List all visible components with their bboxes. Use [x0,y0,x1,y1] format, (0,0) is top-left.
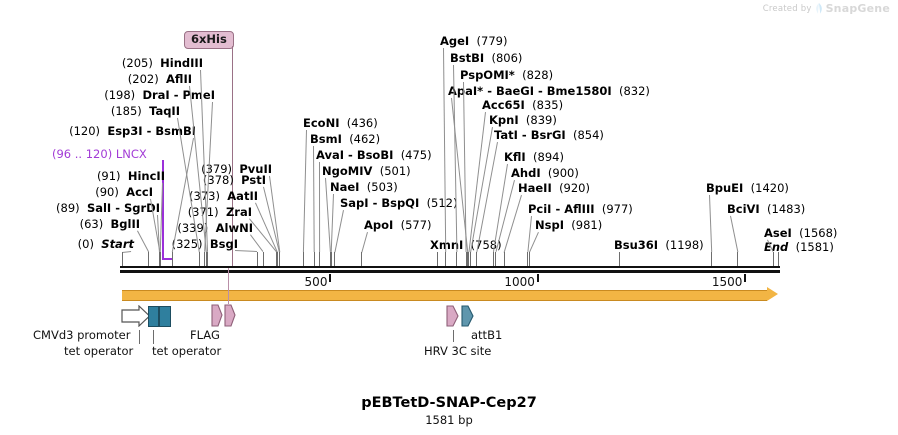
cut-site-tick [334,252,335,266]
orf-arrow-head [767,287,778,301]
enzyme-name: NaeI [330,180,359,194]
enzyme-leader-line [137,231,149,252]
enzyme-name: AflIII [564,202,594,216]
enzyme-position: (577) [401,218,432,232]
enzyme-position: (920) [559,181,590,195]
cut-site-tick [778,252,779,266]
feature-label-cmvd3-promoter: CMVd3 promoter [33,329,130,342]
enzyme-name: PspOMI* [460,68,515,82]
enzyme-leader-line [334,210,344,252]
enzyme-name: KpnI [489,113,519,127]
enzyme-leader-line [250,234,263,252]
feature-flag-stem [228,268,229,304]
cut-site-tick [207,252,208,266]
feature-leader-hrv3c [453,330,454,342]
enzyme-position: (900) [548,166,579,180]
enzyme-name: BstBI [450,51,484,65]
enzyme-name: BglII [111,217,141,231]
enzyme-label-zrai[interactable]: (371) ZraI [188,206,252,218]
enzyme-label-acci[interactable]: (90) AccI [95,186,153,198]
enzyme-name: BsgI [210,237,238,251]
enzyme-leader-line [319,162,320,252]
enzyme-label-apoi[interactable]: ApoI (577) [364,219,432,231]
snapgene-watermark: Created by SnapGene [763,2,890,15]
annotation-lncx-pos: (96 .. 120) [52,147,112,161]
enzyme-position: (198) [104,88,135,102]
enzyme-leader-line [504,195,522,252]
enzyme-label-tati[interactable]: TatI - BsrGI (854) [494,129,604,141]
enzyme-label-econi[interactable]: EcoNI (436) [303,117,378,129]
enzyme-position: (835) [532,98,563,112]
ruler-tick-500 [329,274,331,282]
enzyme-name: AhdI [511,166,541,180]
enzyme-position: (0) [78,237,94,251]
enzyme-name: BsmI [310,132,342,146]
sequence-length: 1581 bp [0,413,898,427]
enzyme-label-bglii[interactable]: (63) BglII [80,218,140,230]
enzyme-position: (475) [401,148,432,162]
enzyme-label-alwni[interactable]: (339) AlwNI [177,222,253,234]
enzyme-name: Start [101,237,134,251]
enzyme-leader-line [331,194,334,252]
enzyme-label-asei[interactable]: AseI (1568) [764,227,837,239]
enzyme-name: SalI [87,201,111,215]
enzyme-position: (379) [201,162,232,176]
enzyme-label-start[interactable]: (0) Start [78,238,134,250]
enzyme-label-sali[interactable]: (89) SalI - SgrDI [56,202,160,214]
cut-site-tick [331,252,332,266]
enzyme-label-agei[interactable]: AgeI (779) [440,35,507,47]
enzyme-name: BsoBI [357,148,394,162]
enzyme-position: (1483) [767,202,805,216]
feature-attb1[interactable] [461,304,475,328]
enzyme-leader-line [709,195,712,252]
page-title: pEBTetD-SNAP-Cep27 [0,395,898,411]
enzyme-name: ZraI [226,205,252,219]
snapgene-leaf-icon [815,3,823,14]
enzyme-position: (1581) [796,240,834,254]
enzyme-name: HindIII [160,56,203,70]
annotation-lncx-name: LNCX [116,147,147,161]
enzyme-name: HincII [128,169,165,183]
cut-site-tick [737,252,738,266]
enzyme-name: TatI [494,128,518,142]
enzyme-label-bstbi[interactable]: BstBI (806) [450,52,522,64]
cut-site-tick [504,252,505,266]
enzyme-position: (854) [573,128,604,142]
enzyme-leader-line [730,216,738,252]
feature-flag[interactable] [211,303,237,328]
annotation-lncx[interactable]: (96 .. 120) LNCX [52,147,147,161]
ruler-tick-1000 [537,274,539,282]
enzyme-leader-line [451,98,468,252]
enzyme-label-apai[interactable]: ApaI* - BaeGI - Bme1580I (832) [448,85,650,97]
enzyme-position: (981) [571,218,602,232]
cut-site-tick [314,252,315,266]
enzyme-name: BaeGI [496,84,534,98]
enzyme-position: (91) [97,169,121,183]
feature-label-tet-operator-1: tet operator [64,345,133,358]
feature-tet-operator-1[interactable] [148,306,159,327]
enzyme-name: KflI [504,150,526,164]
enzyme-label-kfli[interactable]: KflI (894) [504,151,564,163]
enzyme-position: (120) [69,124,100,138]
cut-site-tick [445,252,446,266]
cut-site-tick [495,252,496,266]
enzyme-label-esp3i[interactable]: (120) Esp3I - BsmBI [69,125,196,137]
enzyme-name: PciI [528,202,551,216]
feature-label-flag: FLAG [190,329,220,342]
enzyme-label-ngomiv[interactable]: NgoMIV (501) [322,165,411,177]
enzyme-position: (63) [80,217,104,231]
enzyme-name: BspQI [381,196,419,210]
cut-site-tick [172,252,173,266]
cut-site-tick [303,252,304,266]
enzyme-position: (1198) [665,238,703,252]
cut-site-tick [122,252,123,266]
enzyme-name: BsrGI [531,128,566,142]
cut-site-tick [160,252,161,266]
enzyme-leader-line [303,130,307,252]
enzyme-position: (202) [128,72,159,86]
cut-site-tick [437,252,438,266]
enzyme-name: AvaI [316,148,344,162]
feature-cmvd3-promoter[interactable] [121,305,151,327]
enzyme-leader-line [313,146,315,252]
enzyme-name: HaeII [518,181,552,195]
enzyme-name: AlwNI [216,221,253,235]
cut-site-tick [263,252,264,266]
enzyme-name: Bme1580I [547,84,612,98]
feature-label-hrv-3c-site: HRV 3C site [424,345,491,358]
enzyme-label-pvuii[interactable]: (379) PvuII [201,163,272,175]
enzyme-name: SapI [340,196,369,210]
enzyme-name: Bsu36I [614,238,658,252]
enzyme-position: (1568) [799,226,837,240]
enzyme-name: AflII [166,72,192,86]
feature-hrv-3c-site[interactable] [446,304,460,328]
watermark-created-by: Created by [763,4,812,14]
enzyme-name: BsmBI [155,124,196,138]
enzyme-label-avai[interactable]: AvaI - BsoBI (475) [316,149,432,161]
feature-leader-tet-1 [139,330,140,344]
feature-flag-6xhis[interactable]: 6xHis [184,31,234,49]
cut-site-tick [257,252,258,266]
watermark-brand: SnapGene [826,2,890,15]
enzyme-label-bsmi[interactable]: BsmI (462) [310,133,380,145]
feature-label-attb1: attB1 [471,329,502,342]
cut-site-tick [529,252,530,266]
cut-site-tick [619,252,620,266]
enzyme-name: EcoNI [303,116,339,130]
enzyme-label-naei[interactable]: NaeI (503) [330,181,398,193]
enzyme-position: (839) [526,113,557,127]
cut-site-tick [711,252,712,266]
feature-tet-operator-2[interactable] [159,306,171,327]
enzyme-name: PvuII [239,162,272,176]
ruler-label-1500: 1500 [712,275,745,289]
enzyme-position: (832) [619,84,650,98]
enzyme-position: (185) [111,104,142,118]
enzyme-name: NspI [535,218,564,232]
enzyme-position: (806) [491,51,522,65]
enzyme-position: (894) [533,150,564,164]
ruler-tick-1500 [744,274,746,282]
cut-site-tick [773,252,774,266]
enzyme-label-bpuei[interactable]: BpuEI (1420) [706,182,789,194]
enzyme-label-bsu36i[interactable]: Bsu36I (1198) [614,239,704,251]
enzyme-name: PmeI [183,88,216,102]
enzyme-position: (503) [367,180,398,194]
enzyme-position: (828) [522,68,553,82]
enzyme-name: BpuEI [706,181,743,195]
enzyme-position: (977) [602,202,633,216]
enzyme-position: (1420) [751,181,789,195]
backbone-line-top [120,266,780,268]
enzyme-name: AatII [227,189,258,203]
orf-arrow-bar [122,290,767,301]
enzyme-name: SgrDI [124,201,160,215]
enzyme-name: ApoI [364,218,393,232]
enzyme-leader-line [529,232,539,252]
enzyme-label-pcii[interactable]: PciI - AflIII (977) [528,203,633,215]
enzyme-label-kpni[interactable]: KpnI (839) [489,114,557,126]
enzyme-name: NgoMIV [322,164,372,178]
ruler-label-500: 500 [305,275,330,289]
cut-site-tick [470,252,471,266]
enzyme-label-hindiii[interactable]: (205) HindIII [122,57,203,69]
cut-site-tick [493,252,494,266]
enzyme-label-sapi[interactable]: SapI - BspQI (512) [340,197,458,209]
enzyme-label-drai[interactable]: (198) DraI - PmeI [104,89,215,101]
restriction-site-tick-row [122,252,778,266]
ruler-label-1000: 1000 [504,275,537,289]
enzyme-label-nspi[interactable]: NspI (981) [535,219,602,231]
enzyme-position: (779) [477,34,508,48]
plasmid-map-canvas: Created by SnapGene 6xHis (96 .. 120) LN… [0,0,898,435]
enzyme-position: (90) [95,185,119,199]
enzyme-position: (501) [380,164,411,178]
enzyme-name: TaqII [149,104,180,118]
cut-site-tick [456,252,457,266]
cut-site-tick [476,252,477,266]
enzyme-label-ahdi[interactable]: AhdI (900) [511,167,579,179]
enzyme-name: AseI [764,226,792,240]
enzyme-position: (205) [122,56,153,70]
backbone-line-bottom [120,270,780,273]
cut-site-tick [279,252,280,266]
enzyme-label-bcivi[interactable]: BciVI (1483) [727,203,805,215]
cut-site-tick [148,252,149,266]
cut-site-tick [361,252,362,266]
enzyme-label-aflii[interactable]: (202) AflII [128,73,192,85]
enzyme-name: BciVI [727,202,760,216]
feature-label-tet-operator-2: tet operator [152,345,221,358]
enzyme-label-hincii[interactable]: (91) HincII [97,170,165,182]
cut-site-tick [277,252,278,266]
enzyme-label-pspomi[interactable]: PspOMI* (828) [460,69,553,81]
enzyme-label-acc65i[interactable]: Acc65I (835) [482,99,563,111]
feature-leader-tet-2 [153,330,154,344]
enzyme-name: DraI [142,88,169,102]
enzyme-position: (89) [56,201,80,215]
enzyme-name: XmnI [430,238,463,252]
enzyme-name: AgeI [440,34,469,48]
enzyme-position: (512) [427,196,458,210]
enzyme-leader-line [361,232,368,252]
cut-site-tick [199,252,200,266]
enzyme-position: (462) [349,132,380,146]
enzyme-name: Esp3I [107,124,142,138]
enzyme-name: AccI [126,185,153,199]
enzyme-label-taqii[interactable]: (185) TaqII [111,105,180,117]
cut-site-tick [319,252,320,266]
enzyme-name: Acc65I [482,98,525,112]
enzyme-leader-line [443,48,446,252]
enzyme-label-haeii[interactable]: HaeII (920) [518,182,590,194]
enzyme-position: (436) [347,116,378,130]
